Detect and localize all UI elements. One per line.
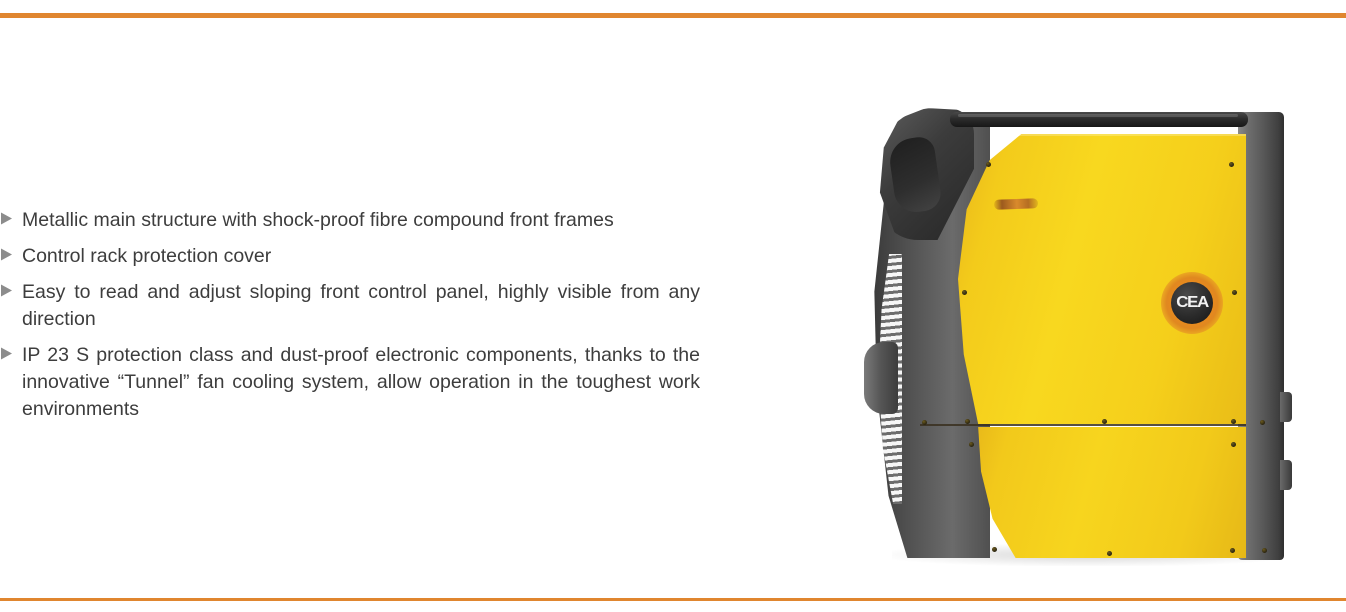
panel-screw <box>1262 548 1267 553</box>
panel-screw <box>1102 419 1107 424</box>
lower-yellow-panel <box>958 427 1246 558</box>
list-item-label: Metallic main structure with shock-proof… <box>22 207 790 234</box>
panel-screw <box>1232 290 1237 295</box>
list-item-label: IP 23 S protection class and dust-proof … <box>22 342 790 423</box>
cea-logo-disc: CEA <box>1171 282 1213 324</box>
panel-screw <box>986 162 991 167</box>
list-item: IP 23 S protection class and dust-proof … <box>0 342 790 423</box>
cea-logo-text: CEA <box>1176 295 1208 311</box>
right-frame-tab <box>1280 460 1292 490</box>
panel-screw <box>962 290 967 295</box>
triangle-bullet-icon <box>0 243 22 261</box>
panel-screw <box>1107 551 1112 556</box>
product-decal <box>994 198 1038 210</box>
list-item-label: Easy to read and adjust sloping front co… <box>22 279 790 333</box>
panel-screw <box>969 442 974 447</box>
panel-screw <box>1231 442 1236 447</box>
page-root: Metallic main structure with shock-proof… <box>0 0 1346 612</box>
right-frame-tab <box>1280 392 1292 422</box>
carry-handle-bar <box>950 112 1248 127</box>
triangle-bullet-icon <box>0 207 22 225</box>
list-item: Control rack protection cover <box>0 243 790 270</box>
triangle-bullet-icon <box>0 279 22 297</box>
side-connector-fitting <box>864 342 898 414</box>
panel-screw <box>1231 419 1236 424</box>
panel-screw <box>992 547 997 552</box>
panel-seam-line <box>920 424 1246 426</box>
product-image: CEA <box>862 104 1332 574</box>
panel-screw <box>1260 420 1265 425</box>
bottom-accent-rule <box>0 598 1346 601</box>
cea-logo-badge: CEA <box>1161 272 1223 334</box>
list-item: Metallic main structure with shock-proof… <box>0 207 790 234</box>
panel-screw <box>922 420 927 425</box>
top-accent-rule <box>0 13 1346 18</box>
feature-list: Metallic main structure with shock-proof… <box>0 207 790 432</box>
panel-screw <box>1229 162 1234 167</box>
panel-screw <box>1230 548 1235 553</box>
triangle-bullet-icon <box>0 342 22 360</box>
panel-screw <box>965 419 970 424</box>
list-item: Easy to read and adjust sloping front co… <box>0 279 790 333</box>
list-item-label: Control rack protection cover <box>22 243 790 270</box>
